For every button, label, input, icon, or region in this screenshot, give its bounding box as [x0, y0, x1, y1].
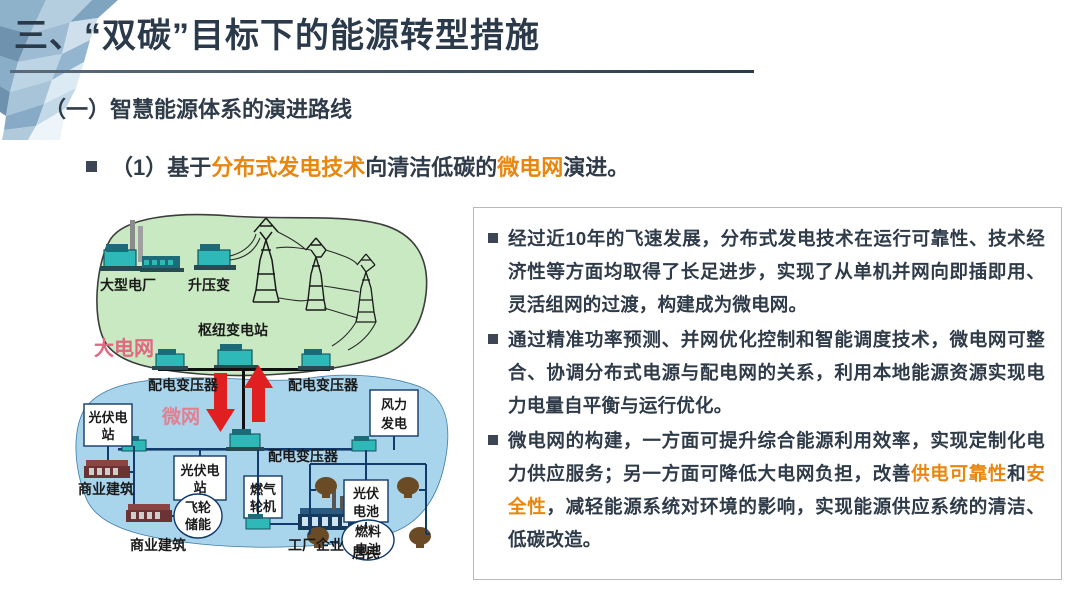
diagram-region-label-microgrid: 微网 — [161, 405, 200, 428]
bullet-highlight-distributed-generation: 分布式发电技术 — [211, 150, 365, 182]
commercial-building-icon — [126, 504, 172, 522]
panel-item-text: 微电网的构建，一方面可提升综合能源利用效率，实现定制化电力供应服务；另一方面可降… — [508, 424, 1045, 556]
diagram-label-factory: 工厂企业 — [288, 537, 344, 554]
diagram-label-step-up-transformer: 升压变 — [188, 277, 230, 294]
diagram-label-pv-battery: 光伏 — [352, 486, 379, 502]
diagram-label-power-plant: 大型电厂 — [100, 277, 156, 294]
explanation-panel: 经过近10年的飞速发展，分布式发电技术在运行可靠性、技术经济性等方面均取得了长足… — [473, 207, 1062, 580]
energy-system-diagram: 大型电厂 升压变 枢纽变电站 配电变压器 配电变压器 商业建筑 商业建筑 配电变… — [70, 198, 460, 568]
diagram-label-gas-turbine-b: 轮机 — [250, 499, 276, 515]
panel-list-item: 通过精准功率预测、并网优化控制和智能调度技术，微电网可整合、协调分布式电源与配电… — [488, 323, 1045, 422]
panel-item-text-part-b: ，减轻能源系统对环境的影响，实现能源供应系统的清洁、低碳改造。 — [508, 496, 1045, 550]
diagram-label-pv-station-1: 光伏电 — [87, 410, 127, 426]
diagram-label-pv-station-2: 光伏电 — [179, 463, 219, 479]
bullet-highlight-microgrid: 微电网 — [497, 150, 563, 182]
panel-item-text: 经过近10年的飞速发展，分布式发电技术在运行可靠性、技术经济性等方面均取得了长足… — [508, 222, 1045, 321]
square-bullet-icon — [488, 435, 498, 445]
diagram-label-hub-substation: 枢纽变电站 — [198, 322, 268, 339]
diagram-label-dist-transformer-3: 配电变压器 — [268, 448, 339, 465]
house-icon — [409, 527, 431, 548]
square-bullet-icon — [488, 334, 498, 344]
panel-list-item: 经过近10年的飞速发展，分布式发电技术在运行可靠性、技术经济性等方面均取得了长足… — [488, 222, 1045, 321]
commercial-building-icon — [84, 460, 130, 478]
diagram-label-wind-power: 风力 — [381, 397, 407, 413]
panel-item-text: 通过精准功率预测、并网优化控制和智能调度技术，微电网可整合、协调分布式电源与配电… — [508, 323, 1045, 422]
bullet-statement: （1）基于 分布式发电技术 向清洁低碳的 微电网 演进。 — [86, 150, 629, 182]
bullet-suffix: 演进。 — [563, 150, 629, 182]
diagram-label-fuel-cell: 燃料 — [355, 524, 381, 540]
diagram-label-dist-transformer-1: 配电变压器 — [148, 377, 219, 394]
diagram-label-commercial-building-1: 商业建筑 — [78, 481, 134, 498]
panel-list-item: 微电网的构建，一方面可提升综合能源利用效率，实现定制化电力供应服务；另一方面可降… — [488, 424, 1045, 556]
diagram-region-label-macrogrid: 大电网 — [94, 336, 154, 360]
diagram-label-wind-power-b: 发电 — [380, 416, 407, 432]
diagram-label-fuel-cell-b: 电池 — [355, 542, 381, 558]
diagram-label-pv-station-2b: 站 — [193, 480, 206, 496]
bullet-prefix: （1）基于 — [111, 150, 211, 182]
diagram-label-pv-battery-b: 电池 — [353, 504, 379, 520]
diagram-label-commercial-building-2: 商业建筑 — [130, 537, 186, 554]
diagram-label-dist-transformer-2: 配电变压器 — [288, 377, 359, 394]
diagram-label-pv-station-1b: 站 — [101, 427, 114, 443]
panel-highlight-supply-reliability: 供电可靠性 — [911, 463, 1007, 484]
square-bullet-icon — [86, 161, 97, 172]
bullet-middle: 向清洁低碳的 — [365, 150, 497, 182]
square-bullet-icon — [488, 233, 498, 243]
diagram-label-gas-turbine: 燃气 — [250, 482, 276, 498]
diagram-label-flywheel-storage-b: 储能 — [184, 517, 211, 533]
page-title: 三、“双碳”目标下的能源转型措施 — [14, 8, 540, 57]
diagram-label-flywheel-storage: 飞轮 — [185, 500, 211, 516]
title-divider — [10, 70, 754, 73]
section-subtitle: （一）智慧能源体系的演进路线 — [44, 92, 352, 124]
panel-item-text-mid: 和 — [1007, 463, 1026, 484]
